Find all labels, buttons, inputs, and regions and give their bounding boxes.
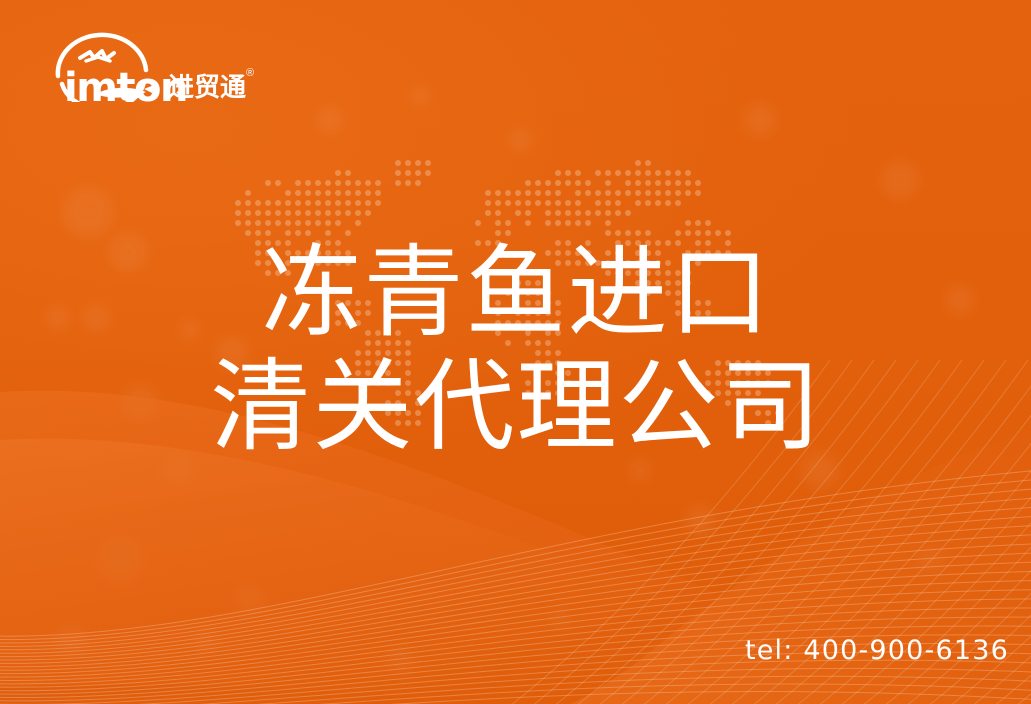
poster-canvas: imton 进贸通 ® 冻青鱼进口 清关代理公司 tel: 400-900-61… xyxy=(0,0,1031,704)
page-title: 冻青鱼进口 清关代理公司 xyxy=(0,236,1031,464)
logo-chinese-name: 进贸通 xyxy=(168,74,246,100)
headline-line-1: 冻青鱼进口 xyxy=(0,236,1031,350)
contact-telephone[interactable]: tel: 400-900-6136 xyxy=(745,635,1009,666)
registered-trademark-icon: ® xyxy=(246,68,254,79)
headline-line-2: 清关代理公司 xyxy=(0,350,1031,464)
brand-logo[interactable]: imton 进贸通 ® xyxy=(36,30,222,102)
